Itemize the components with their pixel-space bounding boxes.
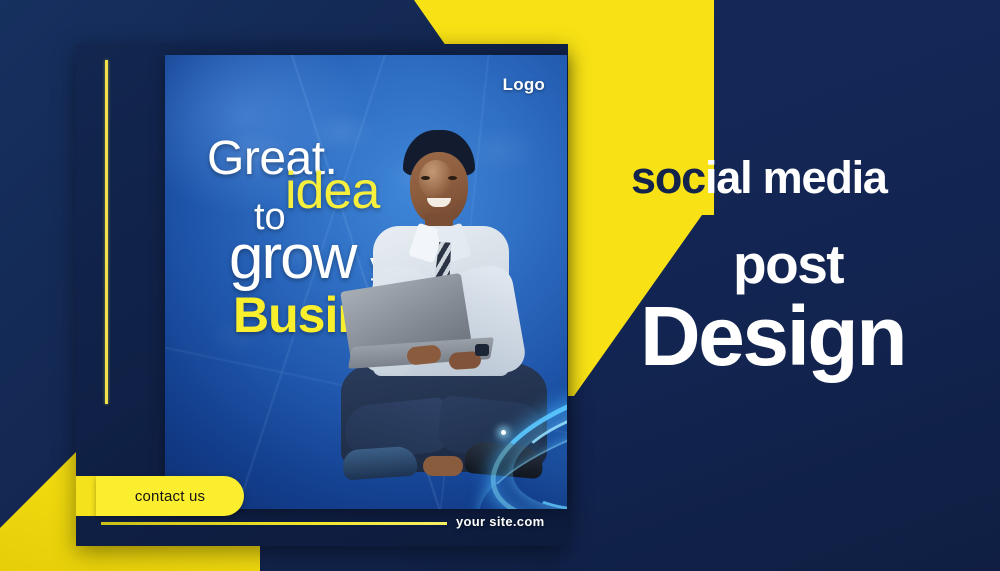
card-accent-line: [105, 60, 108, 404]
right-title-social-dark-segment: soc: [631, 152, 705, 203]
person-eye-right: [448, 176, 457, 180]
poster-canvas: Logo Great. idea to grow your Business: [0, 0, 1000, 571]
contact-button-group[interactable]: contact us: [76, 476, 306, 516]
person-wristwatch: [475, 344, 489, 356]
footer-divider-line: [101, 522, 447, 525]
card-photo-area: Logo Great. idea to grow your Business: [165, 55, 567, 509]
person-photo: [315, 130, 565, 508]
right-title-post: post: [733, 232, 843, 296]
person-eye-left: [421, 176, 430, 180]
glow-spark-left: [501, 430, 506, 435]
right-title-social-media: social media: [631, 152, 887, 204]
logo-text: Logo: [503, 75, 545, 95]
footer-website-text: your site.com: [456, 514, 544, 529]
social-post-card: Logo Great. idea to grow your Business: [76, 44, 568, 546]
person-shoe-left: [342, 445, 418, 480]
person-foot: [423, 456, 463, 476]
right-title-social-light-segment: ial media: [705, 152, 887, 203]
person-face-highlight: [419, 160, 453, 200]
contact-us-button[interactable]: contact us: [96, 476, 244, 516]
right-title-design: Design: [640, 288, 905, 385]
